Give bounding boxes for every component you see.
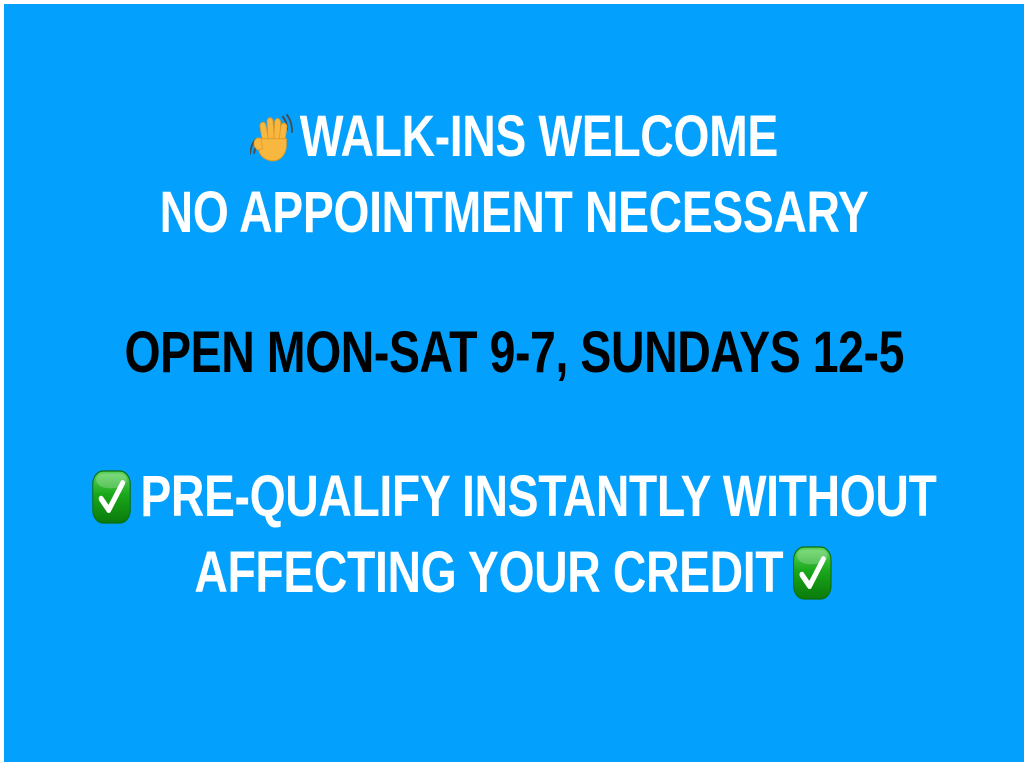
walk-ins-welcome-label: WALK-INS WELCOME xyxy=(300,104,778,169)
check-mark-button-icon-leading xyxy=(91,469,133,525)
prequalify-line-2: AFFECTING YOUR CREDIT xyxy=(91,544,937,602)
open-hours-line: OPEN MON-SAT 9-7, SUNDAYS 12-5 xyxy=(124,324,904,382)
open-hours-label: OPEN MON-SAT 9-7, SUNDAYS 12-5 xyxy=(124,320,904,385)
slide-frame: WALK-INS WELCOME NO APPOINTMENT NECESSAR… xyxy=(0,0,1024,768)
hours-text-block: OPEN MON-SAT 9-7, SUNDAYS 12-5 xyxy=(27,324,1001,382)
prequalify-line-1: PRE-QUALIFY INSTANTLY WITHOUT xyxy=(91,468,937,526)
no-appointment-line: NO APPOINTMENT NECESSARY xyxy=(160,184,869,242)
prequalify-line-2-label: AFFECTING YOUR CREDIT xyxy=(195,540,784,605)
check-mark-button-icon-trailing xyxy=(792,545,834,601)
walk-ins-welcome-line: WALK-INS WELCOME xyxy=(160,108,869,166)
waving-hand-icon xyxy=(250,109,295,165)
welcome-text-block: WALK-INS WELCOME NO APPOINTMENT NECESSAR… xyxy=(71,108,957,242)
slide-canvas: WALK-INS WELCOME NO APPOINTMENT NECESSAR… xyxy=(4,4,1024,762)
no-appointment-label: NO APPOINTMENT NECESSARY xyxy=(160,180,869,245)
prequalify-line-1-label: PRE-QUALIFY INSTANTLY WITHOUT xyxy=(141,464,937,529)
prequalify-text-block: PRE-QUALIFY INSTANTLY WITHOUT AFFECTING … xyxy=(4,468,1024,602)
